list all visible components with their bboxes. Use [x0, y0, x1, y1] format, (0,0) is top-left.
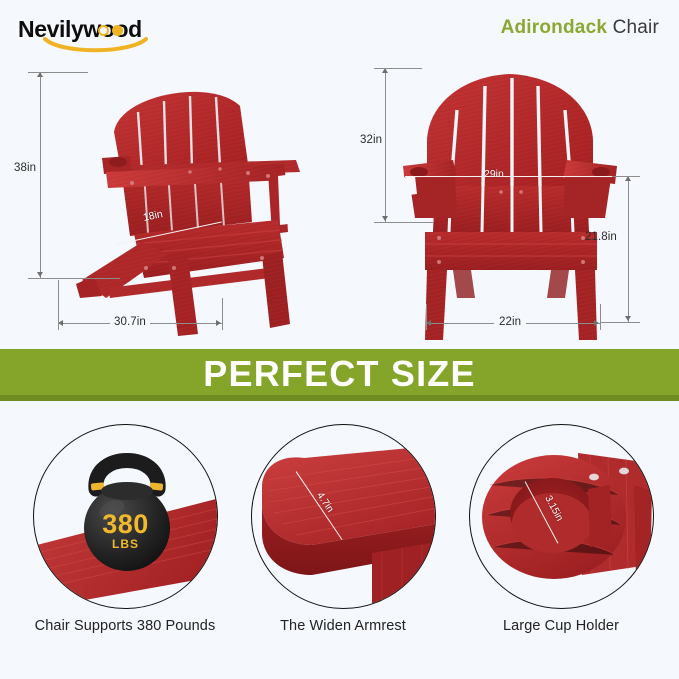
page-title-light: Chair — [607, 17, 659, 38]
page-title-strong: Adirondack — [501, 17, 608, 38]
circle-outline: 3.15in — [469, 424, 654, 609]
feature-cup-holder-circle: 3.15in — [469, 424, 654, 609]
right-seatback-label: 21.8in — [585, 231, 617, 243]
left-width-tick-left — [58, 280, 59, 330]
right-seatback-arrow-bottom — [625, 316, 631, 321]
banner-bottom-strip — [0, 395, 679, 401]
left-height-arrow-bottom — [37, 272, 43, 277]
right-armwidth-dim-line — [405, 176, 620, 177]
chair-angled-illustration — [72, 72, 322, 340]
right-seatback-tick-bottom — [600, 322, 640, 323]
feature-panels: 380 LBS Chair Supports 380 Pounds — [0, 418, 679, 678]
armrest-icon — [252, 425, 436, 609]
feature-armrest-caption: The Widen Armrest — [232, 618, 454, 634]
left-width-label: 30.7in — [110, 316, 150, 328]
right-height-label: 32in — [360, 134, 382, 146]
chair-front-illustration — [385, 66, 635, 344]
feature-cup-holder: 3.15in Large Cup Holder — [450, 418, 672, 678]
page-title: Adirondack Chair — [501, 18, 659, 37]
right-seatback-tick-top — [612, 176, 640, 177]
right-basewidth-arrow-right — [594, 320, 599, 326]
right-height-tick-top — [374, 68, 422, 69]
smile-swoosh-icon — [43, 37, 148, 55]
feature-weight-caption: Chair Supports 380 Pounds — [14, 618, 236, 634]
feature-armrest-circle: 4.7in — [251, 424, 436, 609]
circle-outline: 380 LBS — [33, 424, 218, 609]
left-height-dim-line — [40, 72, 41, 278]
right-height-dim-line — [385, 68, 386, 222]
logo-ring-icon — [98, 25, 109, 36]
kettlebell-weight-unit: LBS — [34, 537, 217, 551]
right-armwidth-label: 29in — [484, 168, 504, 180]
left-width-tick-right — [222, 298, 223, 330]
feature-armrest: 4.7in The Widen Armrest — [232, 418, 454, 678]
feature-weight-capacity: 380 LBS Chair Supports 380 Pounds — [14, 418, 236, 678]
dimension-diagram-area: 38in 30.7in 18in — [0, 58, 679, 346]
page-header: Nevilywood Adirondack Chair — [0, 0, 679, 62]
right-basewidth-tick-right — [600, 304, 601, 330]
feature-weight-circle: 380 LBS — [33, 424, 218, 609]
right-basewidth-label: 22in — [494, 316, 526, 328]
left-height-label: 38in — [14, 162, 36, 174]
logo-dot-icon — [112, 25, 123, 36]
feature-cup-holder-caption: Large Cup Holder — [450, 618, 672, 634]
left-height-tick-top — [28, 72, 88, 73]
brand-logo: Nevilywood — [18, 14, 168, 54]
left-height-tick-bottom — [28, 278, 120, 279]
right-height-tick-bottom — [374, 222, 434, 223]
right-basewidth-tick-left — [426, 304, 427, 330]
right-height-arrow-bottom — [382, 216, 388, 221]
left-width-arrow-right — [216, 320, 221, 326]
right-seatback-dim-line — [628, 176, 629, 322]
circle-outline: 4.7in — [251, 424, 436, 609]
perfect-size-banner: PERFECT SIZE — [0, 349, 679, 401]
banner-title: PERFECT SIZE — [203, 356, 475, 392]
kettlebell-weight-number: 380 — [34, 509, 217, 540]
